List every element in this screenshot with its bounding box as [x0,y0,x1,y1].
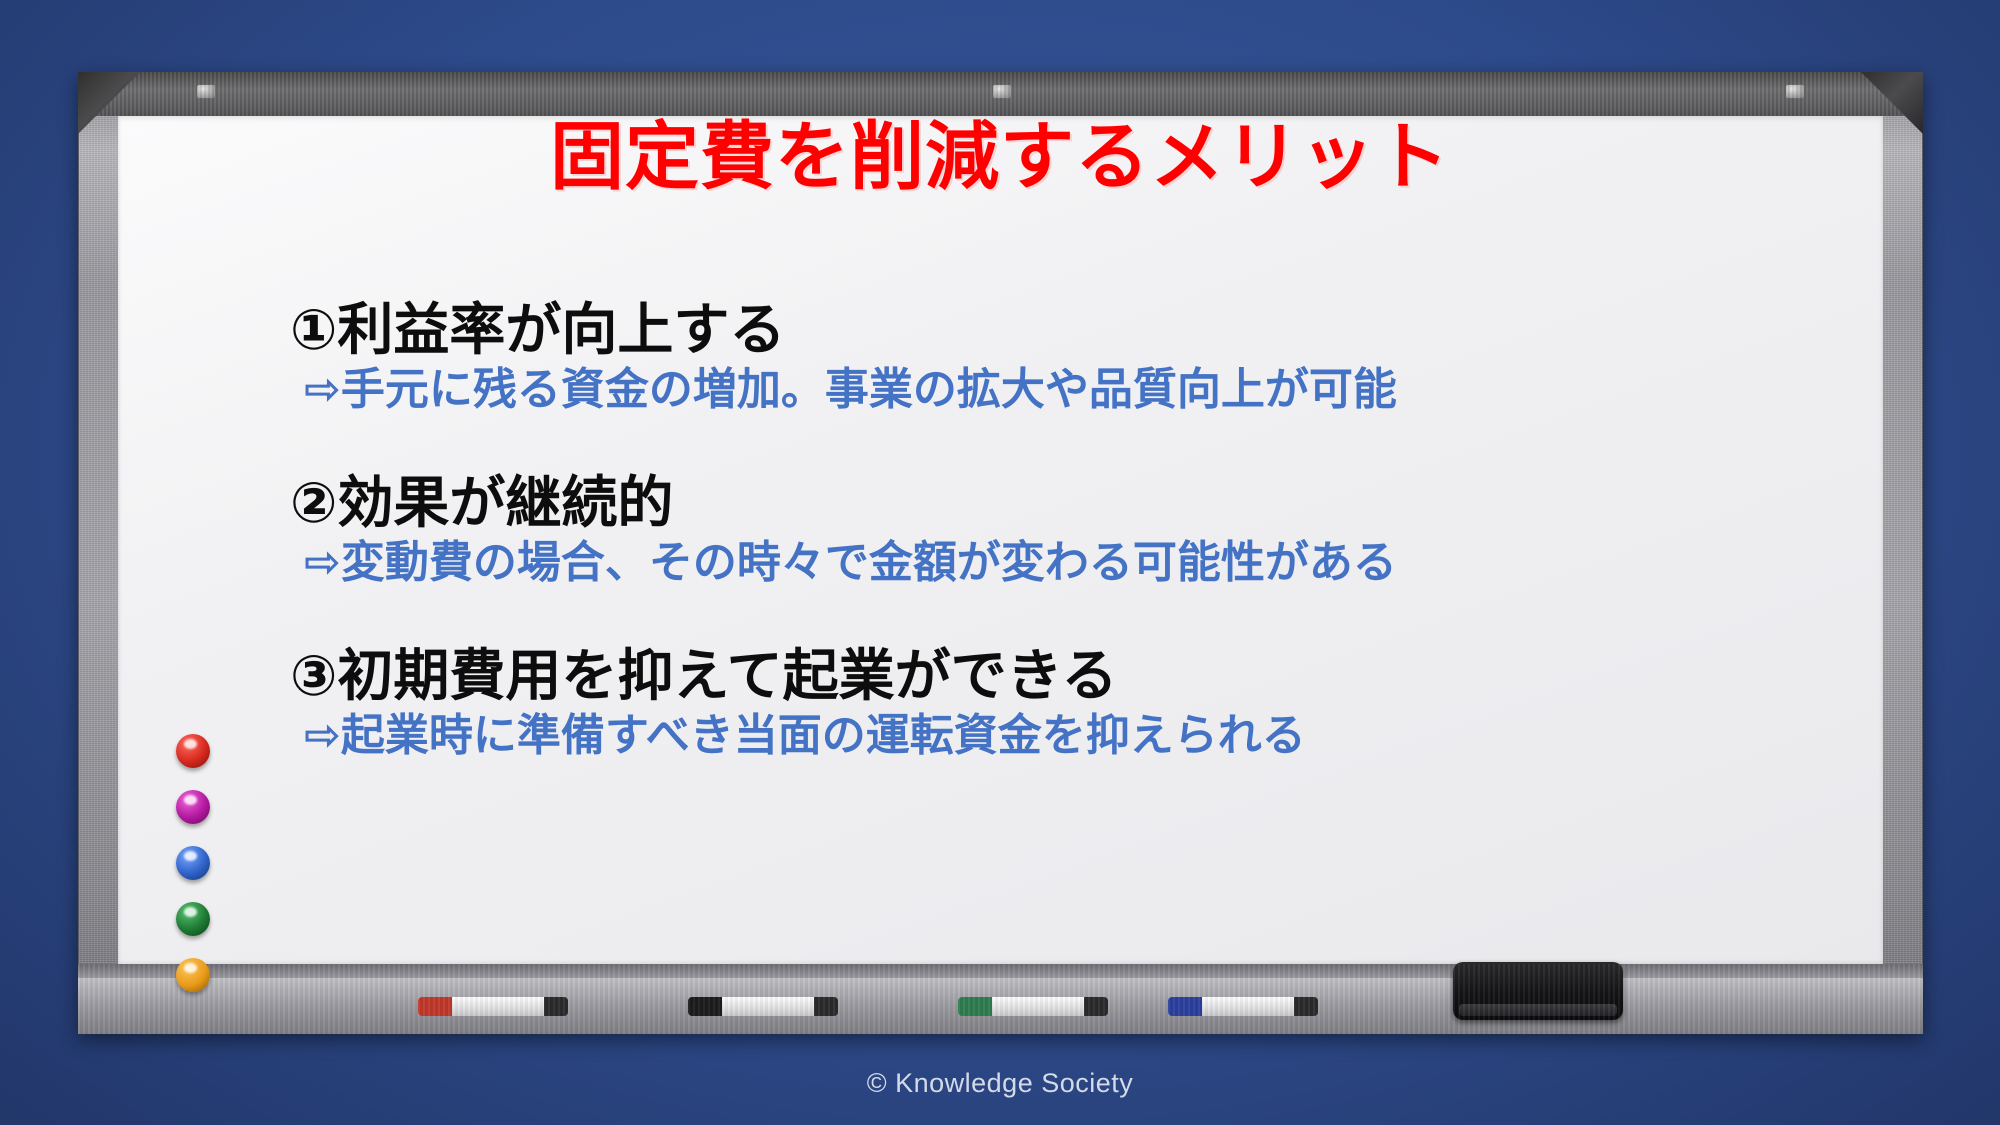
marker-band-blue [1168,997,1202,1016]
marker-band-black [688,997,722,1016]
benefit-3-detail: ⇨起業時に準備すべき当面の運転資金を抑えられる [304,712,1900,760]
marker-red[interactable] [418,997,568,1016]
marker-cap [1294,997,1318,1016]
benefit-item-1: ①利益率が向上する ⇨手元に残る資金の増加。事業の拡大や品質向上が可能 [290,300,1900,415]
marker-body [958,997,1084,1016]
marker-cap [1084,997,1108,1016]
marker-blue[interactable] [1168,997,1318,1016]
rail-screw-left [196,84,216,99]
benefit-item-3: ③初期費用を抑えて起業ができる ⇨起業時に準備すべき当面の運転資金を抑えられる [290,646,1900,761]
magnet-green[interactable] [176,902,210,936]
marker-cap [814,997,838,1016]
benefit-2-heading: ②効果が継続的 [290,473,1900,533]
marker-tray-lip [78,964,1923,978]
benefit-2-detail: ⇨変動費の場合、その時々で金額が変わる可能性がある [304,539,1900,587]
marker-green[interactable] [958,997,1108,1016]
magnet-red[interactable] [176,734,210,768]
marker-cap [544,997,568,1016]
eraser-felt [1459,1004,1617,1016]
magnet-orange[interactable] [176,958,210,992]
rail-screw-center [992,84,1012,99]
whiteboard-top-rail [78,72,1923,116]
benefit-3-heading: ③初期費用を抑えて起業ができる [290,646,1900,706]
benefit-1-heading: ①利益率が向上する [290,300,1900,360]
marker-band-green [958,997,992,1016]
magnet-magenta[interactable] [176,790,210,824]
benefit-item-2: ②効果が継続的 ⇨変動費の場合、その時々で金額が変わる可能性がある [290,473,1900,588]
marker-body [1168,997,1294,1016]
magnet-strip [176,734,210,992]
marker-black[interactable] [688,997,838,1016]
marker-tray [78,964,1923,1034]
magnet-blue[interactable] [176,846,210,880]
marker-band-red [418,997,452,1016]
slide-title: 固定費を削減するメリット [0,120,2000,194]
benefit-1-detail: ⇨手元に残る資金の増加。事業の拡大や品質向上が可能 [304,366,1900,414]
marker-body [418,997,544,1016]
footer-credit: © Knowledge Society [0,1068,2000,1099]
whiteboard-eraser[interactable] [1453,962,1623,1020]
marker-body [688,997,814,1016]
rail-screw-right [1785,84,1805,99]
slide-content: ①利益率が向上する ⇨手元に残る資金の増加。事業の拡大や品質向上が可能 ②効果が… [290,300,1900,761]
